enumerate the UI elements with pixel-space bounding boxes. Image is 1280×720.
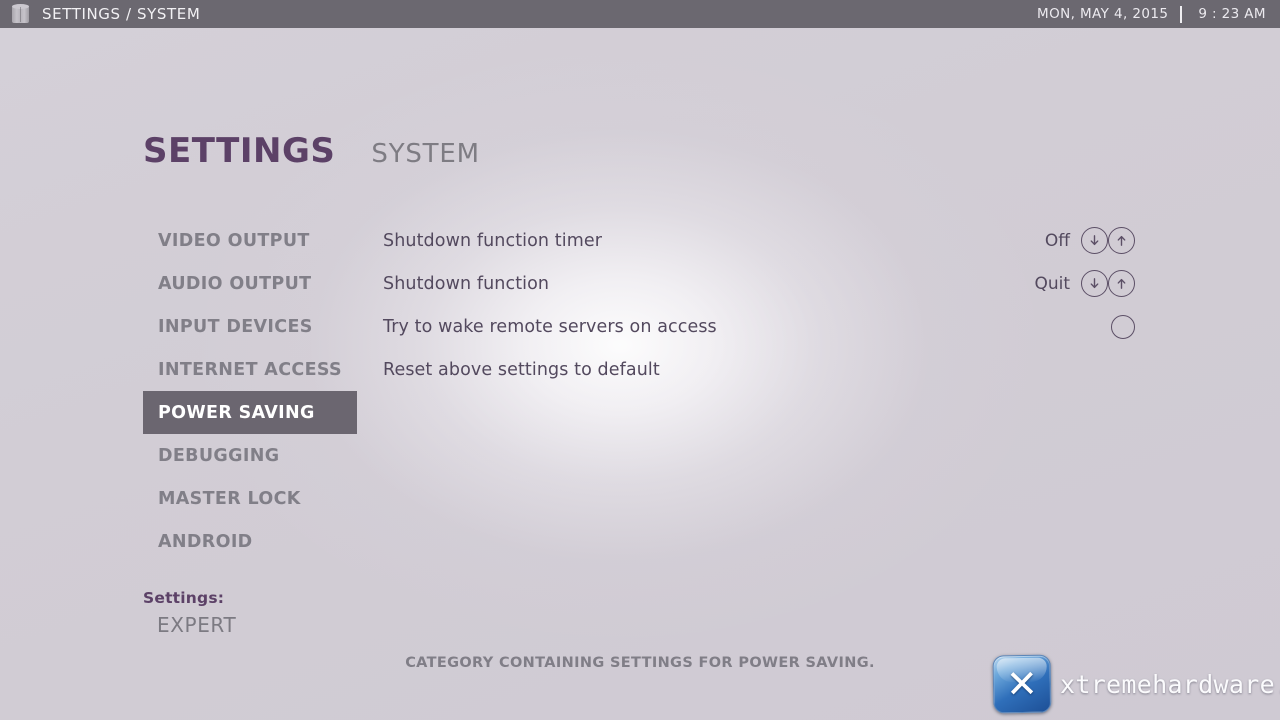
settings-screen: SETTINGS / SYSTEM MON, MAY 4, 2015 9 : 2… xyxy=(0,0,1280,720)
arrow-down-circle-icon[interactable] xyxy=(1081,270,1108,297)
watermark: ✕ xtremehardware.com xyxy=(993,655,1280,713)
top-status-bar: SETTINGS / SYSTEM MON, MAY 4, 2015 9 : 2… xyxy=(0,0,1280,28)
sidebar-item-video-output[interactable]: VIDEO OUTPUT xyxy=(143,219,357,262)
setting-row-reset-to-default[interactable]: Reset above settings to default xyxy=(383,348,1135,391)
topbar-right-group: MON, MAY 4, 2015 9 : 23 AM xyxy=(1037,6,1280,23)
sidebar-item-power-saving[interactable]: POWER SAVING xyxy=(143,391,357,434)
sidebar-item-label: AUDIO OUTPUT xyxy=(158,274,311,294)
watermark-text: xtremehardware.com xyxy=(1060,670,1280,699)
sidebar-item-debugging[interactable]: DEBUGGING xyxy=(143,434,357,477)
setting-row-wake-remote-servers[interactable]: Try to wake remote servers on access xyxy=(383,305,1135,348)
settings-level-indicator: Settings: EXPERT xyxy=(143,589,236,637)
sidebar-item-input-devices[interactable]: INPUT DEVICES xyxy=(143,305,357,348)
setting-label: Shutdown function xyxy=(383,274,549,294)
value-spinner xyxy=(1081,270,1135,297)
setting-control: Quit xyxy=(1034,270,1135,297)
radio-unchecked-icon[interactable] xyxy=(1111,315,1135,339)
sidebar-item-label: INTERNET ACCESS xyxy=(158,360,342,380)
arrow-up-circle-icon[interactable] xyxy=(1108,270,1135,297)
setting-row-shutdown-function[interactable]: Shutdown function Quit xyxy=(383,262,1135,305)
sidebar-item-label: DEBUGGING xyxy=(158,446,279,466)
time-label: 9 : 23 AM xyxy=(1198,6,1266,22)
sidebar-item-label: MASTER LOCK xyxy=(158,489,301,509)
setting-label: Shutdown function timer xyxy=(383,231,602,251)
topbar-left-group: SETTINGS / SYSTEM xyxy=(0,4,200,24)
sidebar-item-label: INPUT DEVICES xyxy=(158,317,313,337)
setting-value: Off xyxy=(1045,231,1070,251)
topbar-separator xyxy=(1180,6,1182,23)
sidebar-item-master-lock[interactable]: MASTER LOCK xyxy=(143,477,357,520)
page-heading: SETTINGS SYSTEM xyxy=(143,131,480,171)
settings-category-list: VIDEO OUTPUT AUDIO OUTPUT INPUT DEVICES … xyxy=(143,219,357,563)
setting-control: Off xyxy=(1045,227,1135,254)
page-subtitle: SYSTEM xyxy=(371,139,479,169)
sidebar-item-android[interactable]: ANDROID xyxy=(143,520,357,563)
setting-label: Try to wake remote servers on access xyxy=(383,317,717,337)
sidebar-item-internet-access[interactable]: INTERNET ACCESS xyxy=(143,348,357,391)
sidebar-item-label: POWER SAVING xyxy=(158,403,315,423)
sidebar-item-audio-output[interactable]: AUDIO OUTPUT xyxy=(143,262,357,305)
setting-value: Quit xyxy=(1034,274,1070,294)
settings-level-label: Settings: xyxy=(143,589,236,607)
breadcrumb: SETTINGS / SYSTEM xyxy=(42,5,200,23)
cylinder-icon xyxy=(12,4,29,24)
setting-row-shutdown-function-timer[interactable]: Shutdown function timer Off xyxy=(383,219,1135,262)
setting-control xyxy=(1111,315,1135,339)
date-label: MON, MAY 4, 2015 xyxy=(1037,6,1168,22)
setting-label: Reset above settings to default xyxy=(383,360,660,380)
xtremehardware-logo-icon: ✕ xyxy=(992,654,1051,713)
settings-options-list: Shutdown function timer Off xyxy=(383,219,1135,391)
settings-level-value: EXPERT xyxy=(157,613,236,637)
sidebar-item-label: VIDEO OUTPUT xyxy=(158,231,310,251)
arrow-down-circle-icon[interactable] xyxy=(1081,227,1108,254)
x-mark: ✕ xyxy=(994,656,1051,713)
arrow-up-circle-icon[interactable] xyxy=(1108,227,1135,254)
value-spinner xyxy=(1081,227,1135,254)
page-title: SETTINGS xyxy=(143,131,335,171)
sidebar-item-label: ANDROID xyxy=(158,532,253,552)
